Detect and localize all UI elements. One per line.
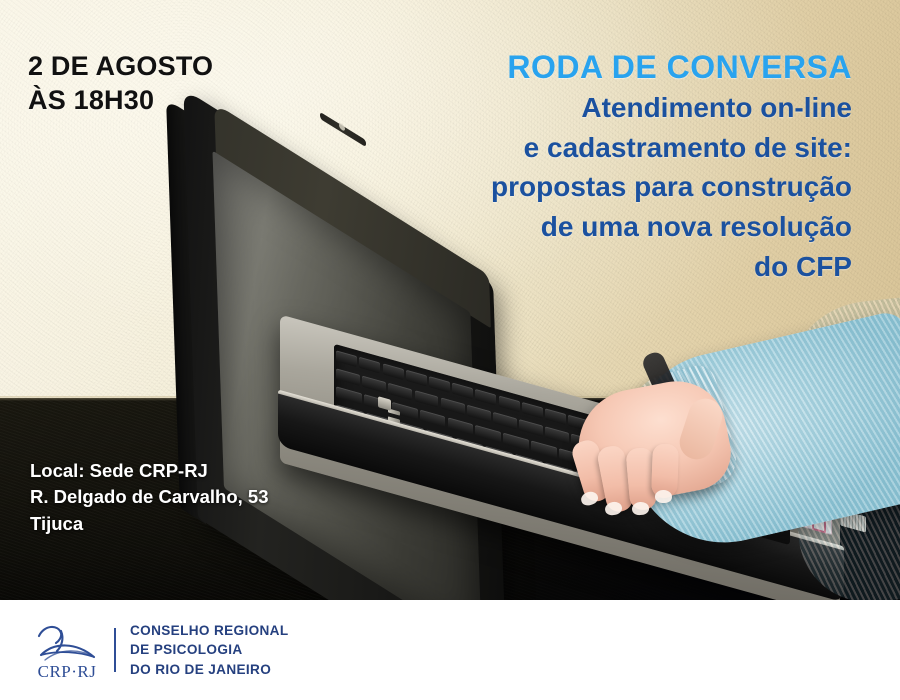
venue-block: Local: Sede CRP-RJ R. Delgado de Carvalh… [30, 458, 269, 537]
poster-footer: CRP·RJ CONSELHO REGIONAL DE PSICOLOGIA D… [0, 600, 900, 700]
crprj-wordmark: CRP·RJ [38, 662, 97, 681]
logo-divider [114, 628, 116, 672]
headline-line-5: do CFP [322, 249, 852, 285]
crprj-bird-book-icon: CRP·RJ [28, 619, 106, 681]
keyboard-key [359, 357, 380, 374]
venue-line-3: Tijuca [30, 511, 269, 537]
keyboard-key [452, 383, 473, 400]
keyboard-key [531, 440, 557, 458]
keyboard-key [406, 370, 427, 387]
institution-name-line-2: DE PSICOLOGIA [130, 640, 289, 659]
headline-line-4: de uma nova resolução [322, 209, 852, 245]
venue-line-1: Local: Sede CRP-RJ [30, 458, 269, 484]
institution-name-line-1: CONSELHO REGIONAL [130, 621, 289, 640]
keyboard-key [441, 397, 465, 415]
keyboard-key [420, 410, 446, 428]
keyboard-key [493, 412, 517, 430]
keyboard-key [467, 405, 491, 423]
headline-kicker: RODA DE CONVERSA [322, 50, 852, 86]
headline-line-3: propostas para construção [322, 169, 852, 205]
keyboard-key [362, 376, 386, 394]
headline-block: RODA DE CONVERSA Atendimento on-line e c… [322, 50, 852, 285]
institution-name: CONSELHO REGIONAL DE PSICOLOGIA DO RIO D… [130, 621, 289, 679]
keyboard-key [336, 350, 357, 367]
keyboard-key [475, 425, 501, 443]
institution-name-line-3: DO RIO DE JANEIRO [130, 660, 289, 679]
keyboard-key [448, 417, 474, 435]
crprj-logo[interactable]: CRP·RJ CONSELHO REGIONAL DE PSICOLOGIA D… [28, 618, 289, 682]
keyboard-key [336, 368, 360, 386]
poster-photo: 2 DE AGOSTO ÀS 18H30 RODA DE CONVERSA At… [0, 0, 900, 600]
keyboard-key [522, 402, 543, 419]
keyboard-key [545, 408, 566, 425]
poster-root: 2 DE AGOSTO ÀS 18H30 RODA DE CONVERSA At… [0, 0, 900, 700]
headline-line-2: e cadastramento de site: [322, 130, 852, 166]
event-date-line-1: 2 DE AGOSTO [28, 50, 213, 84]
keyboard-key [415, 390, 439, 408]
event-date-block: 2 DE AGOSTO ÀS 18H30 [28, 50, 213, 118]
keyboard-key [388, 383, 412, 401]
fingernail [655, 490, 672, 504]
keyboard-key [475, 389, 496, 406]
headline-line-1: Atendimento on-line [322, 90, 852, 126]
venue-line-2: R. Delgado de Carvalho, 53 [30, 484, 269, 510]
event-date-line-2: ÀS 18H30 [28, 84, 213, 118]
keyboard-key [519, 419, 543, 437]
keyboard-key [336, 386, 362, 404]
keyboard-key [383, 363, 404, 380]
keyboard-key [545, 426, 569, 444]
keyboard-key [429, 376, 450, 393]
keyboard-key [499, 395, 520, 412]
keyboard-key [503, 433, 529, 451]
